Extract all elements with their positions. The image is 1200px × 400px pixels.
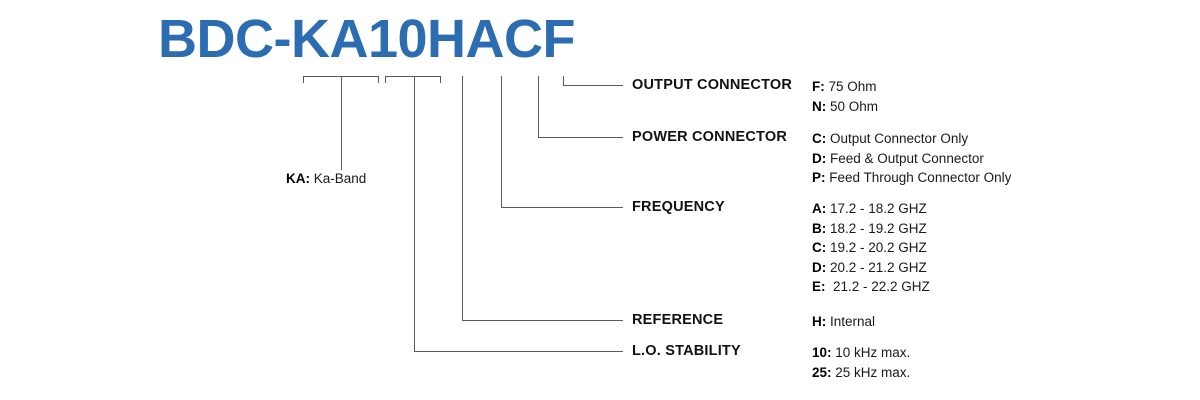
page-title: BDC-KA10HACF: [158, 12, 575, 66]
option-list-output-connector: F: 75 Ohm N: 50 Ohm: [812, 77, 878, 116]
option-value: 19.2 - 20.2 GHZ: [826, 240, 927, 255]
callout-label-power-connector: POWER CONNECTOR: [632, 129, 787, 145]
option-value: Feed & Output Connector: [826, 151, 984, 166]
option-key: 25:: [812, 365, 832, 380]
option-key: D:: [812, 260, 826, 275]
option-value: 10 kHz max.: [832, 345, 911, 360]
option-value: 50 Ohm: [826, 99, 878, 114]
leader-line-lo-bracket-right-tick: [440, 76, 441, 83]
option-key: A:: [812, 201, 826, 216]
leader-line-lo-stability-vertical: [414, 76, 415, 352]
leader-line-frequency-horizontal: [501, 207, 623, 208]
option-row: F: 75 Ohm: [812, 77, 878, 97]
leader-line-lo-stability-horizontal: [414, 351, 623, 352]
annotation-ka-band-key: KA:: [286, 171, 310, 186]
callout-label-output-connector: OUTPUT CONNECTOR: [632, 77, 792, 93]
option-key: N:: [812, 99, 826, 114]
option-key: F:: [812, 79, 825, 94]
option-key: P:: [812, 170, 826, 185]
option-value: 20.2 - 21.2 GHZ: [826, 260, 927, 275]
option-value: 21.2 - 22.2 GHZ: [826, 279, 930, 294]
option-list-reference: H: Internal: [812, 312, 875, 332]
leader-line-reference-horizontal: [462, 320, 623, 321]
option-list-power-connector: C: Output Connector Only D: Feed & Outpu…: [812, 129, 1011, 188]
option-key: B:: [812, 221, 826, 236]
option-key: D:: [812, 151, 826, 166]
leader-line-ka-stem: [341, 76, 342, 170]
option-value: Internal: [826, 314, 875, 329]
option-row: D: 20.2 - 21.2 GHZ: [812, 258, 930, 278]
option-value: 18.2 - 19.2 GHZ: [826, 221, 927, 236]
option-row: N: 50 Ohm: [812, 97, 878, 117]
option-row: E: 21.2 - 22.2 GHZ: [812, 277, 930, 297]
option-row: C: Output Connector Only: [812, 129, 1011, 149]
option-value: 25 kHz max.: [832, 365, 911, 380]
option-value: 75 Ohm: [825, 79, 877, 94]
option-row: 25: 25 kHz max.: [812, 363, 910, 383]
annotation-ka-band-value: Ka-Band: [310, 171, 366, 186]
leader-line-ka-bracket-right-tick: [378, 76, 379, 83]
part-number-breakdown-diagram: BDC-KA10HACF KA: Ka-Band OUTPUT CONNECTO…: [0, 0, 1200, 400]
leader-line-frequency-vertical: [501, 76, 502, 208]
leader-line-power-connector-horizontal: [538, 137, 623, 138]
option-key: C:: [812, 240, 826, 255]
leader-line-reference-vertical: [462, 76, 463, 321]
option-row: C: 19.2 - 20.2 GHZ: [812, 238, 930, 258]
annotation-ka-band: KA: Ka-Band: [286, 171, 366, 186]
option-row: B: 18.2 - 19.2 GHZ: [812, 219, 930, 239]
leader-line-lo-bracket-left-tick: [385, 76, 386, 83]
option-list-lo-stability: 10: 10 kHz max. 25: 25 kHz max.: [812, 343, 910, 382]
callout-label-lo-stability: L.O. STABILITY: [632, 343, 741, 359]
option-value: Output Connector Only: [826, 131, 968, 146]
leader-line-lo-bracket-top: [385, 76, 441, 77]
callout-label-reference: REFERENCE: [632, 312, 723, 328]
callout-label-frequency: FREQUENCY: [632, 199, 725, 215]
leader-line-power-connector-vertical: [538, 76, 539, 138]
option-row: A: 17.2 - 18.2 GHZ: [812, 199, 930, 219]
option-value: Feed Through Connector Only: [826, 170, 1012, 185]
option-row: H: Internal: [812, 312, 875, 332]
option-key: E:: [812, 279, 826, 294]
option-row: P: Feed Through Connector Only: [812, 168, 1011, 188]
leader-line-ka-bracket-left-tick: [303, 76, 304, 83]
option-row: D: Feed & Output Connector: [812, 149, 1011, 169]
option-key: H:: [812, 314, 826, 329]
leader-line-output-connector-horizontal: [563, 85, 623, 86]
option-row: 10: 10 kHz max.: [812, 343, 910, 363]
option-value: 17.2 - 18.2 GHZ: [826, 201, 927, 216]
option-key: 10:: [812, 345, 832, 360]
option-list-frequency: A: 17.2 - 18.2 GHZ B: 18.2 - 19.2 GHZ C:…: [812, 199, 930, 297]
option-key: C:: [812, 131, 826, 146]
